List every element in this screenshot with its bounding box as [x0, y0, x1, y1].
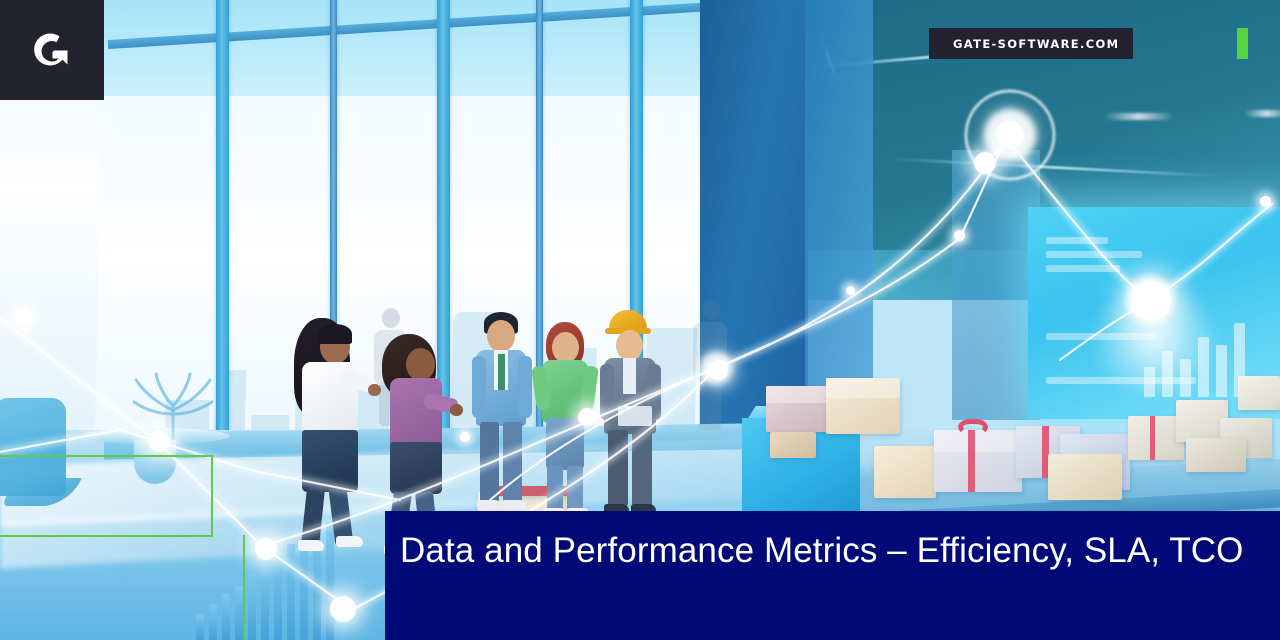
parcel-box	[1238, 376, 1280, 410]
person-woman-white-blouse	[288, 318, 380, 553]
person-man-hardhat	[600, 310, 662, 515]
screen-text-row	[1046, 265, 1120, 272]
tie	[498, 354, 505, 390]
article-title-bar: Data and Performance Metrics – Efficienc…	[385, 511, 1280, 640]
parcel-box	[770, 432, 816, 458]
ceiling-light-beam	[1244, 110, 1280, 117]
hand	[450, 404, 463, 416]
trousers	[632, 430, 652, 508]
parcel-box	[826, 378, 900, 434]
trousers	[503, 422, 522, 504]
potted-plant-icon	[118, 370, 228, 440]
head	[406, 348, 435, 381]
trousers	[480, 422, 499, 504]
brand-logo[interactable]	[0, 0, 104, 100]
network-node	[148, 430, 170, 452]
network-node	[708, 360, 728, 380]
network-node	[460, 432, 470, 442]
shoe	[477, 500, 501, 510]
article-title: Data and Performance Metrics – Efficienc…	[400, 529, 1256, 573]
gift-box	[934, 430, 1022, 492]
network-node	[16, 310, 32, 326]
ceiling-light-beam	[1104, 113, 1174, 120]
arm	[600, 364, 614, 420]
shoe	[502, 500, 526, 510]
head	[552, 332, 579, 363]
network-node	[1131, 281, 1171, 321]
screen-text-row	[1046, 251, 1142, 258]
wall-panel-right	[952, 150, 1040, 420]
skirt	[390, 442, 442, 494]
head	[487, 320, 515, 352]
structural-pillar	[805, 0, 873, 430]
person-man-blue-suit	[472, 312, 532, 512]
head	[616, 330, 643, 361]
network-node	[974, 152, 996, 174]
network-node	[954, 230, 965, 241]
parcel-box	[1048, 454, 1122, 500]
jeans	[546, 418, 584, 470]
cover-image-canvas: GATE-SOFTWARE.COM Data and Performance M…	[0, 0, 1280, 640]
arm	[472, 356, 486, 418]
skirt	[302, 430, 358, 492]
clipboard	[618, 406, 652, 426]
site-url-accent-bar	[1237, 28, 1248, 59]
trousers	[608, 430, 628, 508]
shoe	[336, 536, 363, 547]
arm	[518, 356, 532, 418]
hair-front	[318, 324, 352, 344]
sky-band	[102, 0, 804, 96]
network-node	[996, 121, 1024, 149]
leg	[567, 466, 583, 512]
parcel-box	[1186, 438, 1246, 472]
torso	[390, 378, 442, 446]
screen-text-row	[1046, 237, 1108, 244]
network-node	[1260, 196, 1271, 207]
network-node	[330, 596, 356, 622]
site-url-badge[interactable]: GATE-SOFTWARE.COM	[929, 28, 1133, 59]
network-node	[578, 408, 596, 426]
site-url-text: GATE-SOFTWARE.COM	[953, 37, 1119, 51]
decor-frame-divider	[0, 535, 213, 537]
gate-g-logo-icon	[26, 24, 78, 76]
network-node	[846, 286, 855, 295]
shirt	[623, 358, 636, 394]
network-node	[255, 538, 277, 560]
leg	[547, 466, 563, 512]
parcel-box	[874, 446, 936, 498]
leg	[301, 487, 325, 547]
shoe	[298, 540, 324, 551]
